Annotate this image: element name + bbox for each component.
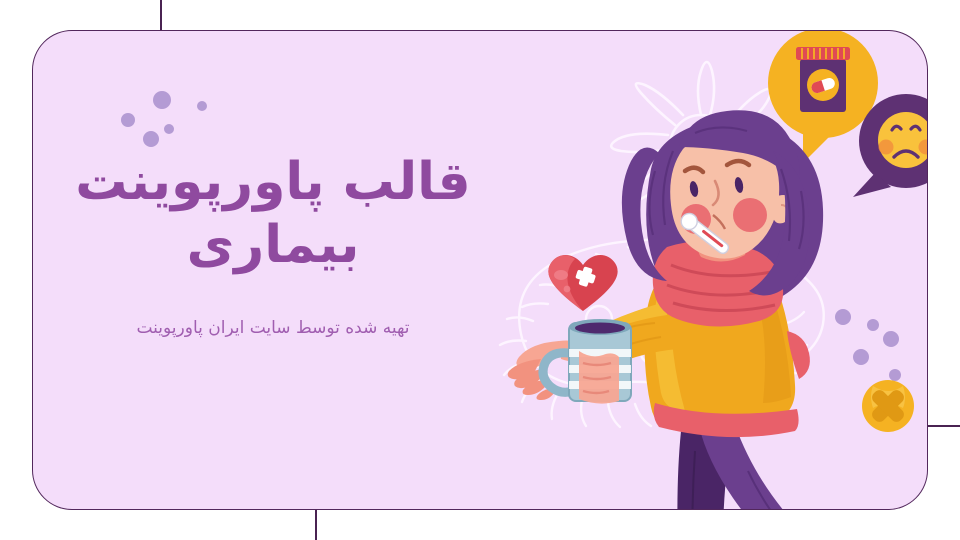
page-title: قالب پاورپوینت بیماری [63, 151, 483, 278]
crop-mark-top [160, 0, 162, 32]
decorative-dot [164, 124, 174, 134]
page-title-line-1: قالب پاورپوینت [75, 152, 470, 212]
bandaged-heart-icon [548, 255, 617, 311]
slide-text-block: قالب پاورپوینت بیماری تهیه شده توسط سایت… [63, 151, 483, 343]
decorative-dot [197, 101, 207, 111]
yellow-coin-cross-icon [861, 379, 915, 433]
decorative-dot [153, 91, 171, 109]
pill-capsule-icon [923, 183, 928, 252]
decorative-dot [121, 113, 135, 127]
slide-canvas: قالب پاورپوینت بیماری تهیه شده توسط سایت… [0, 0, 960, 540]
slide-card: قالب پاورپوینت بیماری تهیه شده توسط سایت… [32, 30, 928, 510]
woman-character-figure [508, 110, 849, 510]
teal-mug [543, 319, 631, 404]
decorative-dot [143, 131, 159, 147]
page-title-line-2: بیماری [187, 215, 360, 275]
crop-mark-bottom [315, 510, 317, 540]
page-subtitle: تهیه شده توسط سایت ایران پاورپوینت [123, 314, 423, 343]
slide-card-inner: قالب پاورپوینت بیماری تهیه شده توسط سایت… [33, 31, 927, 509]
crop-mark-right [928, 425, 960, 427]
